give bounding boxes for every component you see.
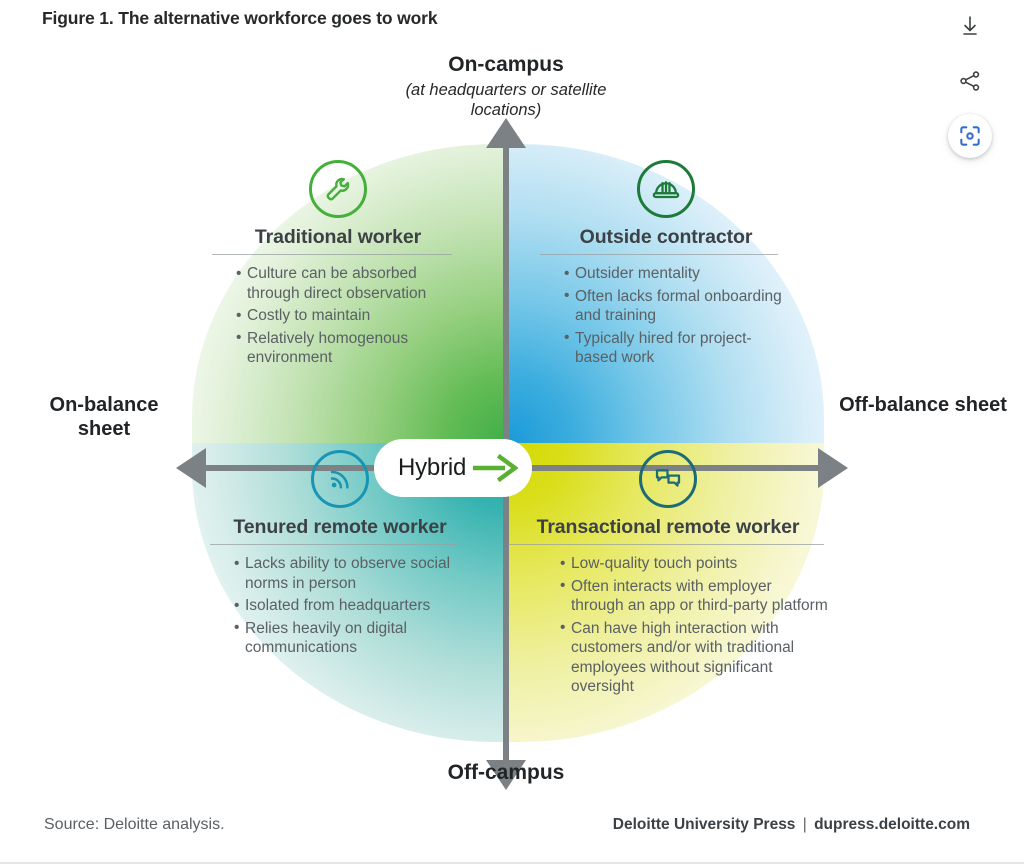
list-item: Costly to maintain — [236, 306, 464, 326]
page-title: Figure 1. The alternative workforce goes… — [42, 8, 437, 29]
quadrant-title: Tenured remote worker — [210, 516, 470, 539]
quadrant-card-traditional-worker: Traditional worker Culture can be absorb… — [212, 160, 464, 371]
list-item: Outsider mentality — [564, 264, 792, 284]
list-item: Often interacts with employer through an… — [560, 577, 828, 616]
quadrant-title: Traditional worker — [212, 226, 464, 249]
figure-page: Figure 1. The alternative workforce goes… — [0, 0, 1024, 864]
title-divider — [540, 254, 778, 255]
quadrant-bullets: Low-quality touch points Often interacts… — [560, 554, 828, 697]
quadrant-card-tenured-remote-worker: Tenured remote worker Lacks ability to o… — [210, 450, 470, 661]
list-item: Lacks ability to observe social norms in… — [234, 554, 470, 593]
list-item: Culture can be absorbed through direct o… — [236, 264, 464, 303]
quadrant-bullets: Culture can be absorbed through direct o… — [236, 264, 464, 368]
list-item: Relies heavily on digital communications — [234, 619, 470, 658]
credit-separator: | — [803, 816, 807, 833]
quadrant-card-transactional-remote-worker: Transactional remote worker Low-quality … — [508, 450, 828, 700]
list-item: Low-quality touch points — [560, 554, 828, 574]
hard-hat-icon — [650, 173, 682, 205]
wifi-signal-icon — [325, 464, 355, 494]
quadrant-bullets: Outsider mentality Often lacks formal on… — [564, 264, 792, 368]
quadrant-title: Outside contractor — [540, 226, 792, 249]
source-note: Source: Deloitte analysis. — [44, 816, 225, 834]
wrench-icon — [323, 174, 353, 204]
title-divider — [210, 544, 458, 545]
list-item: Can have high interaction with customers… — [560, 619, 828, 697]
wifi-signal-icon-circle — [311, 450, 369, 508]
hard-hat-icon-circle — [637, 160, 695, 218]
axis-label-bottom: Off-campus — [386, 760, 626, 785]
credit-site: dupress.deloitte.com — [814, 816, 970, 833]
axis-label-top: On-campus (at headquarters or satellite … — [386, 52, 626, 120]
axis-arrow-left-icon — [176, 448, 206, 488]
title-divider — [212, 254, 452, 255]
axis-label-right: Off-balance sheet — [838, 393, 1008, 417]
download-button[interactable] — [948, 4, 992, 48]
wrench-icon-circle — [309, 160, 367, 218]
axis-arrow-up-icon — [486, 118, 526, 148]
list-item: Relatively homogenous environment — [236, 329, 464, 368]
chat-bubbles-icon — [653, 464, 683, 494]
quadrant-diagram: On-campus (at headquarters or satellite … — [0, 44, 1024, 804]
title-divider — [508, 544, 824, 545]
list-item: Isolated from headquarters — [234, 596, 470, 616]
download-icon — [958, 14, 982, 38]
quadrant-title: Transactional remote worker — [508, 516, 828, 539]
credit-line: Deloitte University Press | dupress.delo… — [613, 816, 970, 834]
list-item: Typically hired for project-based work — [564, 329, 792, 368]
axis-label-top-sub: (at headquarters or satellite locations) — [386, 80, 626, 120]
chat-bubbles-icon-circle — [639, 450, 697, 508]
quadrant-card-outside-contractor: Outside contractor Outsider mentality Of… — [540, 160, 792, 371]
quadrant-bullets: Lacks ability to observe social norms in… — [234, 554, 470, 658]
axis-label-left: On-balance sheet — [24, 393, 184, 441]
credit-org: Deloitte University Press — [613, 816, 796, 833]
list-item: Often lacks formal onboarding and traini… — [564, 287, 792, 326]
axis-label-top-main: On-campus — [448, 53, 564, 76]
